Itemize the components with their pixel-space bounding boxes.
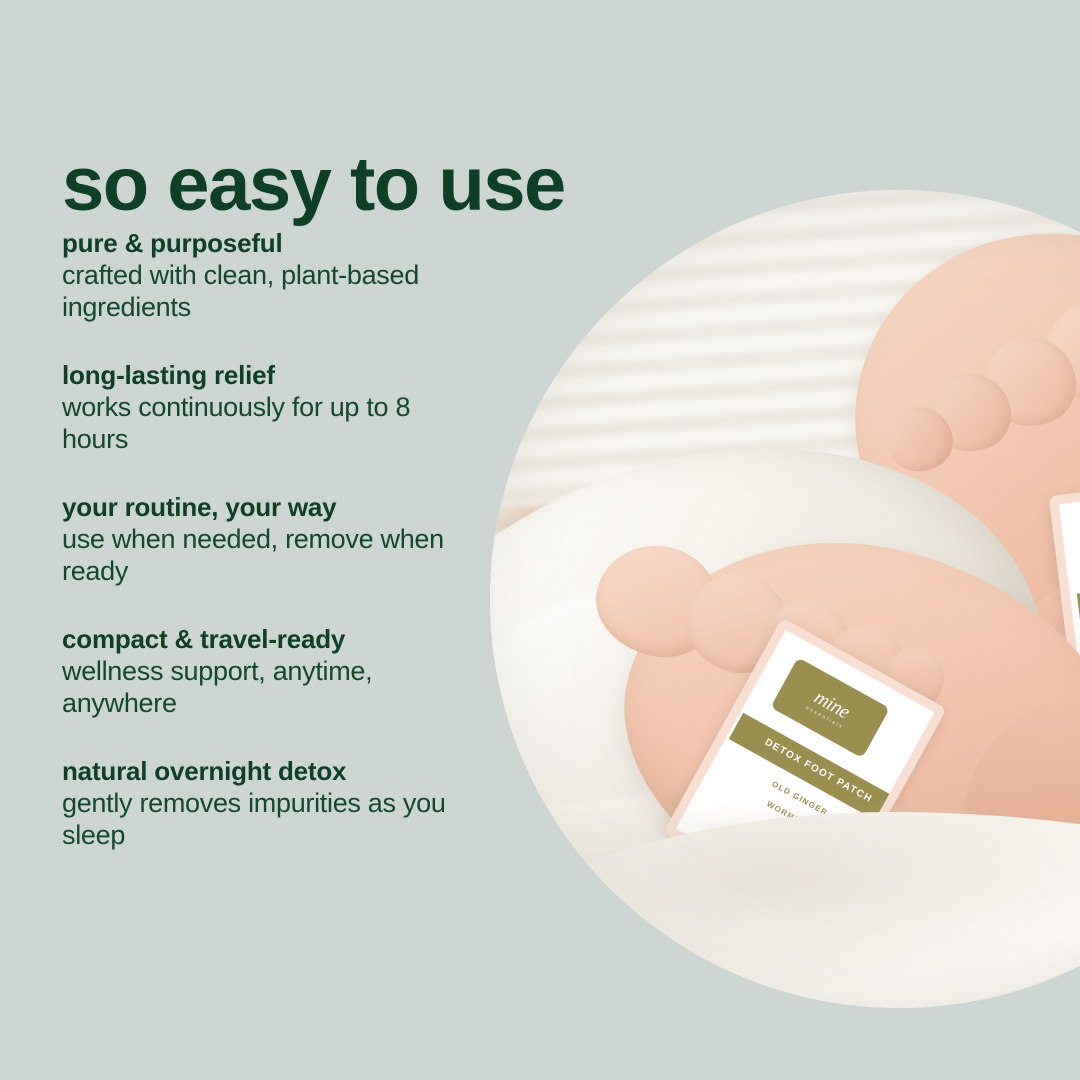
benefit-title: compact & travel-ready bbox=[62, 624, 482, 655]
benefit-title: pure & purposeful bbox=[62, 228, 482, 259]
benefit-description: gently removes impurities as you sleep bbox=[62, 787, 482, 852]
photo-inner: mine essentials DETOX FOOT PATCH OLD GIN… bbox=[490, 190, 1080, 1008]
benefit-description: works continuously for up to 8 hours bbox=[62, 391, 482, 456]
benefit-description: wellness support, anytime, anywhere bbox=[62, 655, 482, 720]
benefits-list: pure & purposeful crafted with clean, pl… bbox=[62, 228, 482, 852]
benefit-item-4: compact & travel-ready wellness support,… bbox=[62, 624, 482, 720]
promo-card: mine essentials DETOX FOOT PATCH OLD GIN… bbox=[0, 0, 1080, 1080]
benefit-item-2: long-lasting relief works continuously f… bbox=[62, 360, 482, 456]
page-title: so easy to use bbox=[62, 147, 565, 223]
benefit-title: natural overnight detox bbox=[62, 756, 482, 787]
benefit-description: use when needed, remove when ready bbox=[62, 523, 482, 588]
benefit-item-3: your routine, your way use when needed, … bbox=[62, 492, 482, 588]
benefit-title: long-lasting relief bbox=[62, 360, 482, 391]
product-photo: mine essentials DETOX FOOT PATCH OLD GIN… bbox=[490, 190, 1080, 1008]
benefit-item-1: pure & purposeful crafted with clean, pl… bbox=[62, 228, 482, 324]
duvet-bottom-shadow bbox=[539, 812, 1080, 992]
benefit-title: your routine, your way bbox=[62, 492, 482, 523]
benefit-item-5: natural overnight detox gently removes i… bbox=[62, 756, 482, 852]
benefit-description: crafted with clean, plant-based ingredie… bbox=[62, 259, 482, 324]
